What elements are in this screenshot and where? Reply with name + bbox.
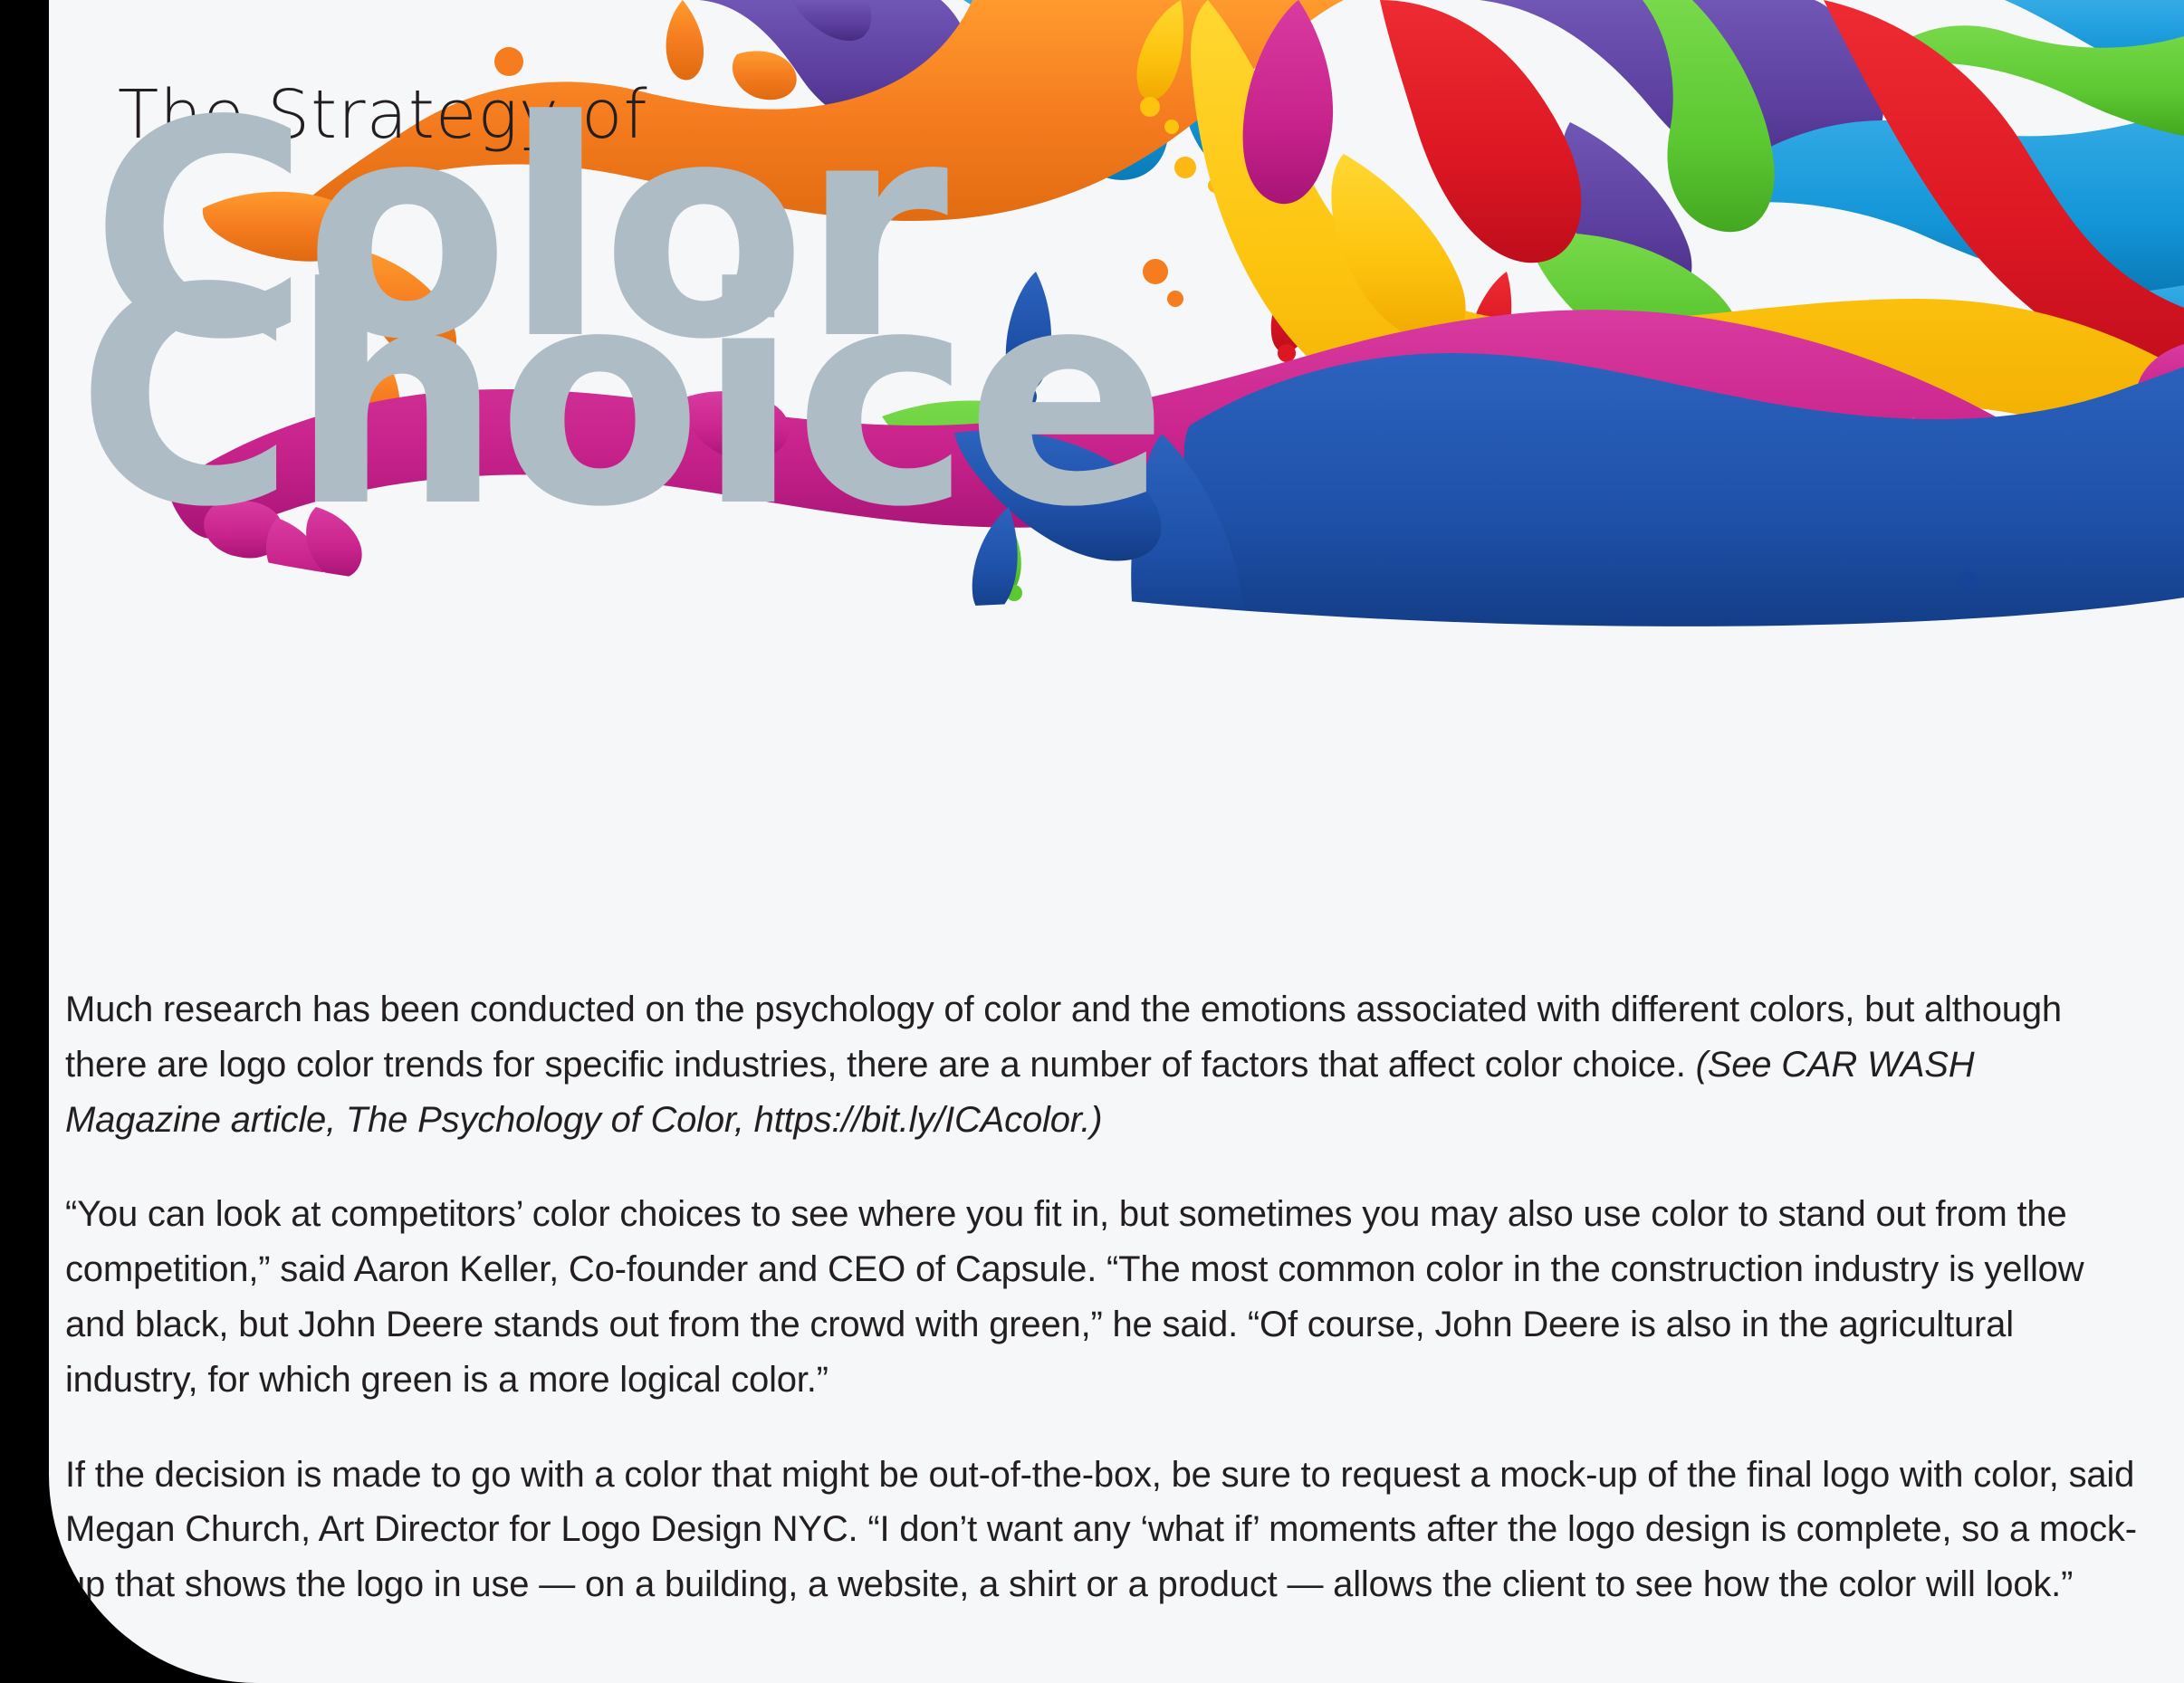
magazine-page: The Strategy of Color Choice <box>0 0 2184 1683</box>
paint-splash-svg <box>49 0 2184 634</box>
paragraph-1: Much research has been conducted on the … <box>65 982 2139 1147</box>
paragraph-3: If the decision is made to go with a col… <box>65 1448 2139 1612</box>
page-sheet: The Strategy of Color Choice <box>49 0 2184 1683</box>
article-body: Much research has been conducted on the … <box>65 982 2139 1612</box>
paint-splash-artwork <box>49 0 2184 634</box>
paragraph-2: “You can look at competitors’ color choi… <box>65 1187 2139 1407</box>
